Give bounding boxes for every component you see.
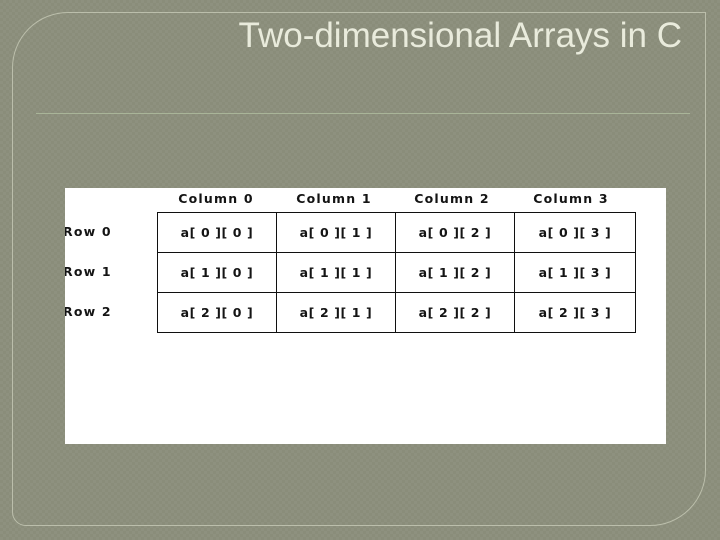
array-cell-2-0: a[ 2 ][ 0 ]: [158, 293, 277, 333]
column-header-2: Column 2: [393, 191, 511, 206]
array-cell-2-3: a[ 2 ][ 3 ]: [515, 293, 636, 333]
row-label-1: Row 1: [65, 264, 159, 279]
column-header-0: Column 0: [157, 191, 275, 206]
array-cell-1-3: a[ 1 ][ 3 ]: [515, 253, 636, 293]
array-cell-0-0: a[ 0 ][ 0 ]: [158, 213, 277, 253]
row-label-0: Row 0: [65, 224, 159, 239]
array-cell-1-2: a[ 1 ][ 2 ]: [396, 253, 515, 293]
array-cell-1-1: a[ 1 ][ 1 ]: [277, 253, 396, 293]
table-row: a[ 1 ][ 0 ] a[ 1 ][ 1 ] a[ 1 ][ 2 ] a[ 1…: [158, 253, 636, 293]
array-cell-1-0: a[ 1 ][ 0 ]: [158, 253, 277, 293]
array-cell-0-1: a[ 0 ][ 1 ]: [277, 213, 396, 253]
column-header-1: Column 1: [275, 191, 393, 206]
array-grid-table: a[ 0 ][ 0 ] a[ 0 ][ 1 ] a[ 0 ][ 2 ] a[ 0…: [157, 212, 636, 333]
table-row: a[ 0 ][ 0 ] a[ 0 ][ 1 ] a[ 0 ][ 2 ] a[ 0…: [158, 213, 636, 253]
array-cell-2-2: a[ 2 ][ 2 ]: [396, 293, 515, 333]
title-divider-line: [36, 113, 690, 114]
array-diagram-image: Row 0 Row 1 Row 2 Column 0 Column 1 Colu…: [65, 188, 666, 444]
slide: Two-dimensional Arrays in C Row 0 Row 1 …: [0, 0, 720, 540]
slide-title: Two-dimensional Arrays in C: [60, 14, 682, 58]
column-header-3: Column 3: [511, 191, 631, 206]
table-row: a[ 2 ][ 0 ] a[ 2 ][ 1 ] a[ 2 ][ 2 ] a[ 2…: [158, 293, 636, 333]
array-cell-2-1: a[ 2 ][ 1 ]: [277, 293, 396, 333]
array-cell-0-2: a[ 0 ][ 2 ]: [396, 213, 515, 253]
array-cell-0-3: a[ 0 ][ 3 ]: [515, 213, 636, 253]
row-label-2: Row 2: [65, 304, 159, 319]
